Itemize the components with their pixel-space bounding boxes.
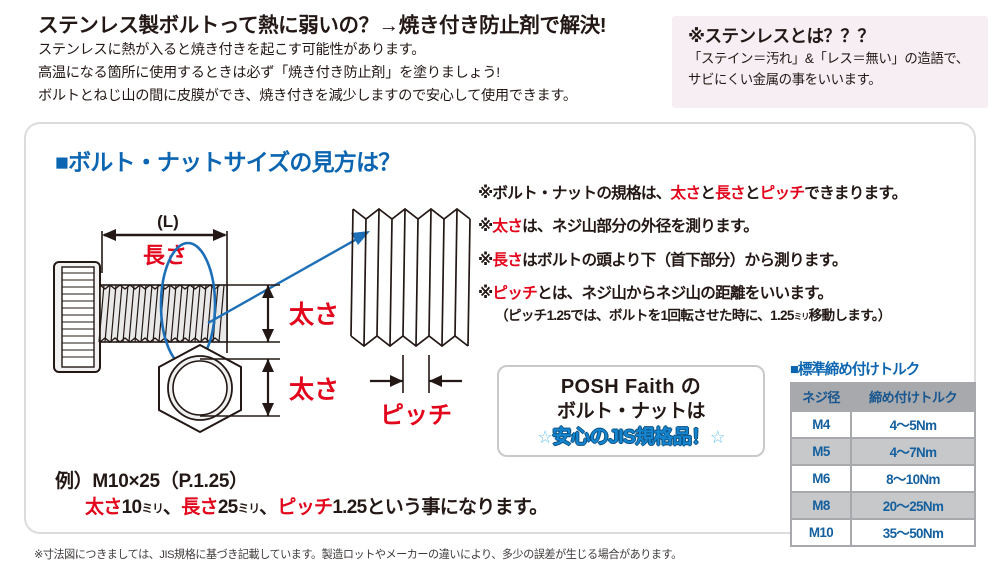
panel-title: ■ボルト・ナットサイズの見方は？ <box>55 143 400 177</box>
stainless-definition-box: ※ステンレスとは？？？ 「ステイン＝汚れ」&「レス＝無い」の造語で、 サビにくい… <box>672 16 988 108</box>
cell-size: M8 <box>792 493 850 518</box>
stainless-definition-line-2: サビにくい金属の事をいいます。 <box>688 69 974 91</box>
bullet-1-seg-2: 太さ <box>671 185 701 202</box>
example-pitch-label: ピッチ <box>277 497 332 518</box>
cell-torque: 20〜25Nm <box>852 493 974 518</box>
length-bracket-label: (L) <box>157 212 179 231</box>
cell-size: M10 <box>792 520 850 545</box>
cell-torque: 35〜50Nm <box>852 520 974 545</box>
bullet-item-4: ※ピッチとは、ネジ山からネジ山の距離をいいます。 <box>478 284 983 303</box>
star-right-icon: ☆ <box>710 427 725 447</box>
header-text-block: ステンレス製ボルトって熱に弱いの？→焼き付き防止剤で解決! ステンレスに熱が入る… <box>38 14 658 108</box>
bolt-nut-diagram: (L) 長さ <box>40 195 510 445</box>
infographic-page: ステンレス製ボルトって熱に弱いの？→焼き付き防止剤で解決! ステンレスに熱が入る… <box>0 0 1000 572</box>
posh-line-3: ☆安心のJIS規格品！☆ <box>499 425 763 450</box>
example-tail: という事になります。 <box>367 497 548 518</box>
torque-table: ネジ径 締め付けトルク M4 4〜5Nm M5 4〜7Nm M6 8〜10Nm <box>790 382 976 547</box>
example-length-unit: ミリ <box>238 502 260 515</box>
bullet-1-seg-1: ※ボルト・ナットの規格は、 <box>478 185 671 202</box>
example-sep-2: 、 <box>259 497 277 518</box>
nut-thickness-label: 太さ <box>289 376 339 404</box>
page-title: ステンレス製ボルトって熱に弱いの？→焼き付き防止剤で解決! <box>38 14 658 39</box>
bullet-1-seg-6: ピッチ <box>760 185 805 202</box>
example-thickness-label: 太さ <box>85 497 122 518</box>
subnote-post: 移動します。） <box>809 308 891 323</box>
cell-torque: 4〜5Nm <box>852 412 974 437</box>
example-thickness-value: 10 <box>122 497 142 518</box>
example-line-1: 例）M10×25（P.1.25） <box>55 466 248 493</box>
bolt-head <box>54 262 100 372</box>
bullet-4-seg-1: ※ <box>478 285 492 302</box>
torque-table-block: ■標準締め付けトルク ネジ径 締め付けトルク M4 4〜5Nm M5 4〜7Nm <box>790 358 978 547</box>
torque-table-title: ■標準締め付けトルク <box>790 358 978 379</box>
thread-zoom-profile <box>351 209 470 346</box>
bullet-item-3: ※長さはボルトの頭より下（首下部分）から測ります。 <box>478 251 983 270</box>
posh-faith-box: POSH Faith の ボルト・ナットは ☆安心のJIS規格品！☆ <box>497 365 765 457</box>
table-row: M4 4〜5Nm <box>792 412 974 437</box>
bullet-item-2: ※太さは、ネジ山部分の外径を測ります。 <box>478 217 983 236</box>
bullet-item-1: ※ボルト・ナットの規格は、太さと長さとピッチできまります。 <box>478 184 983 203</box>
pitch-dimension <box>370 355 462 393</box>
bullet-4-seg-2: ピッチ <box>492 285 537 302</box>
header-line-1: ステンレスに熱が入ると焼き付きを起こす可能性があります。 <box>38 39 658 62</box>
example-length-label: 長さ <box>181 497 218 518</box>
stainless-definition-line-1: 「ステイン＝汚れ」&「レス＝無い」の造語で、 <box>688 48 974 70</box>
bolt-thickness-label: 太さ <box>289 301 339 329</box>
cell-torque: 4〜7Nm <box>852 439 974 464</box>
header-line-3: ボルトとねじ山の間に皮膜ができ、焼き付きを減少しますので安心して使用できます。 <box>38 85 658 108</box>
table-header-size: ネジ径 <box>792 384 850 410</box>
example-pitch-value: 1.25 <box>332 497 366 518</box>
example-thickness-unit: ミリ <box>141 502 163 515</box>
header-line-2: 高温になる箇所に使用するときは必ず「焼き付き防止剤」を塗りましょう! <box>38 62 658 85</box>
example-sep-1: 、 <box>163 497 181 518</box>
stainless-definition-title: ※ステンレスとは？？？ <box>688 25 974 48</box>
bullet-3-seg-3: はボルトの頭より下（首下部分）から測ります。 <box>522 252 847 269</box>
bullet-1-seg-5: と <box>745 185 760 202</box>
posh-line-1: POSH Faith の <box>499 374 763 400</box>
cell-size: M5 <box>792 439 850 464</box>
example-length-value: 25 <box>218 497 238 518</box>
bullet-1-seg-4: 長さ <box>715 185 745 202</box>
bullet-4-seg-3: とは、ネジ山からネジ山の距離をいいます。 <box>537 285 832 302</box>
table-header-torque: 締め付けトルク <box>852 384 974 410</box>
spec-bullet-list: ※ボルト・ナットの規格は、太さと長さとピッチできまります。 ※太さは、ネジ山部分… <box>478 184 983 325</box>
table-row: M5 4〜7Nm <box>792 439 974 464</box>
bullet-2-seg-1: ※ <box>478 218 492 235</box>
footer-disclaimer: ※寸法図につきましては、JIS規格に基づき記載しています。製造ロットやメーカーの… <box>34 546 682 562</box>
cell-size: M6 <box>792 466 850 491</box>
bullet-2-seg-2: 太さ <box>492 218 522 235</box>
example-line-2: 太さ10ミリ、長さ25ミリ、ピッチ1.25という事になります。 <box>85 492 548 519</box>
posh-jis-text: 安心のJIS規格品！ <box>552 426 710 448</box>
bullet-3-seg-2: 長さ <box>492 252 522 269</box>
bullet-3-seg-1: ※ <box>478 252 492 269</box>
cell-torque: 8〜10Nm <box>852 466 974 491</box>
cell-size: M4 <box>792 412 850 437</box>
pitch-label: ピッチ <box>380 402 452 429</box>
posh-line-2: ボルト・ナットは <box>499 400 763 425</box>
table-row: M10 35〜50Nm <box>792 520 974 545</box>
bullet-1-seg-3: と <box>700 185 715 202</box>
table-header-row: ネジ径 締め付けトルク <box>792 384 974 410</box>
nut-drawing <box>159 345 241 432</box>
bullet-2-seg-3: は、ネジ山部分の外径を測ります。 <box>522 218 758 235</box>
bullet-item-4-subnote: （ピッチ1.25では、ボルトを1回転させた時に、1.25ミリ移動します。） <box>495 308 983 325</box>
table-row: M6 8〜10Nm <box>792 466 974 491</box>
star-left-icon: ☆ <box>537 427 552 447</box>
table-row: M8 20〜25Nm <box>792 493 974 518</box>
bolt-thickness-dimension <box>227 285 280 342</box>
bullet-1-seg-7: できまります。 <box>804 185 906 202</box>
subnote-unit: ミリ <box>794 312 809 322</box>
subnote-pre: （ピッチ1.25では、ボルトを1回転させた時に、1.25 <box>495 308 794 323</box>
